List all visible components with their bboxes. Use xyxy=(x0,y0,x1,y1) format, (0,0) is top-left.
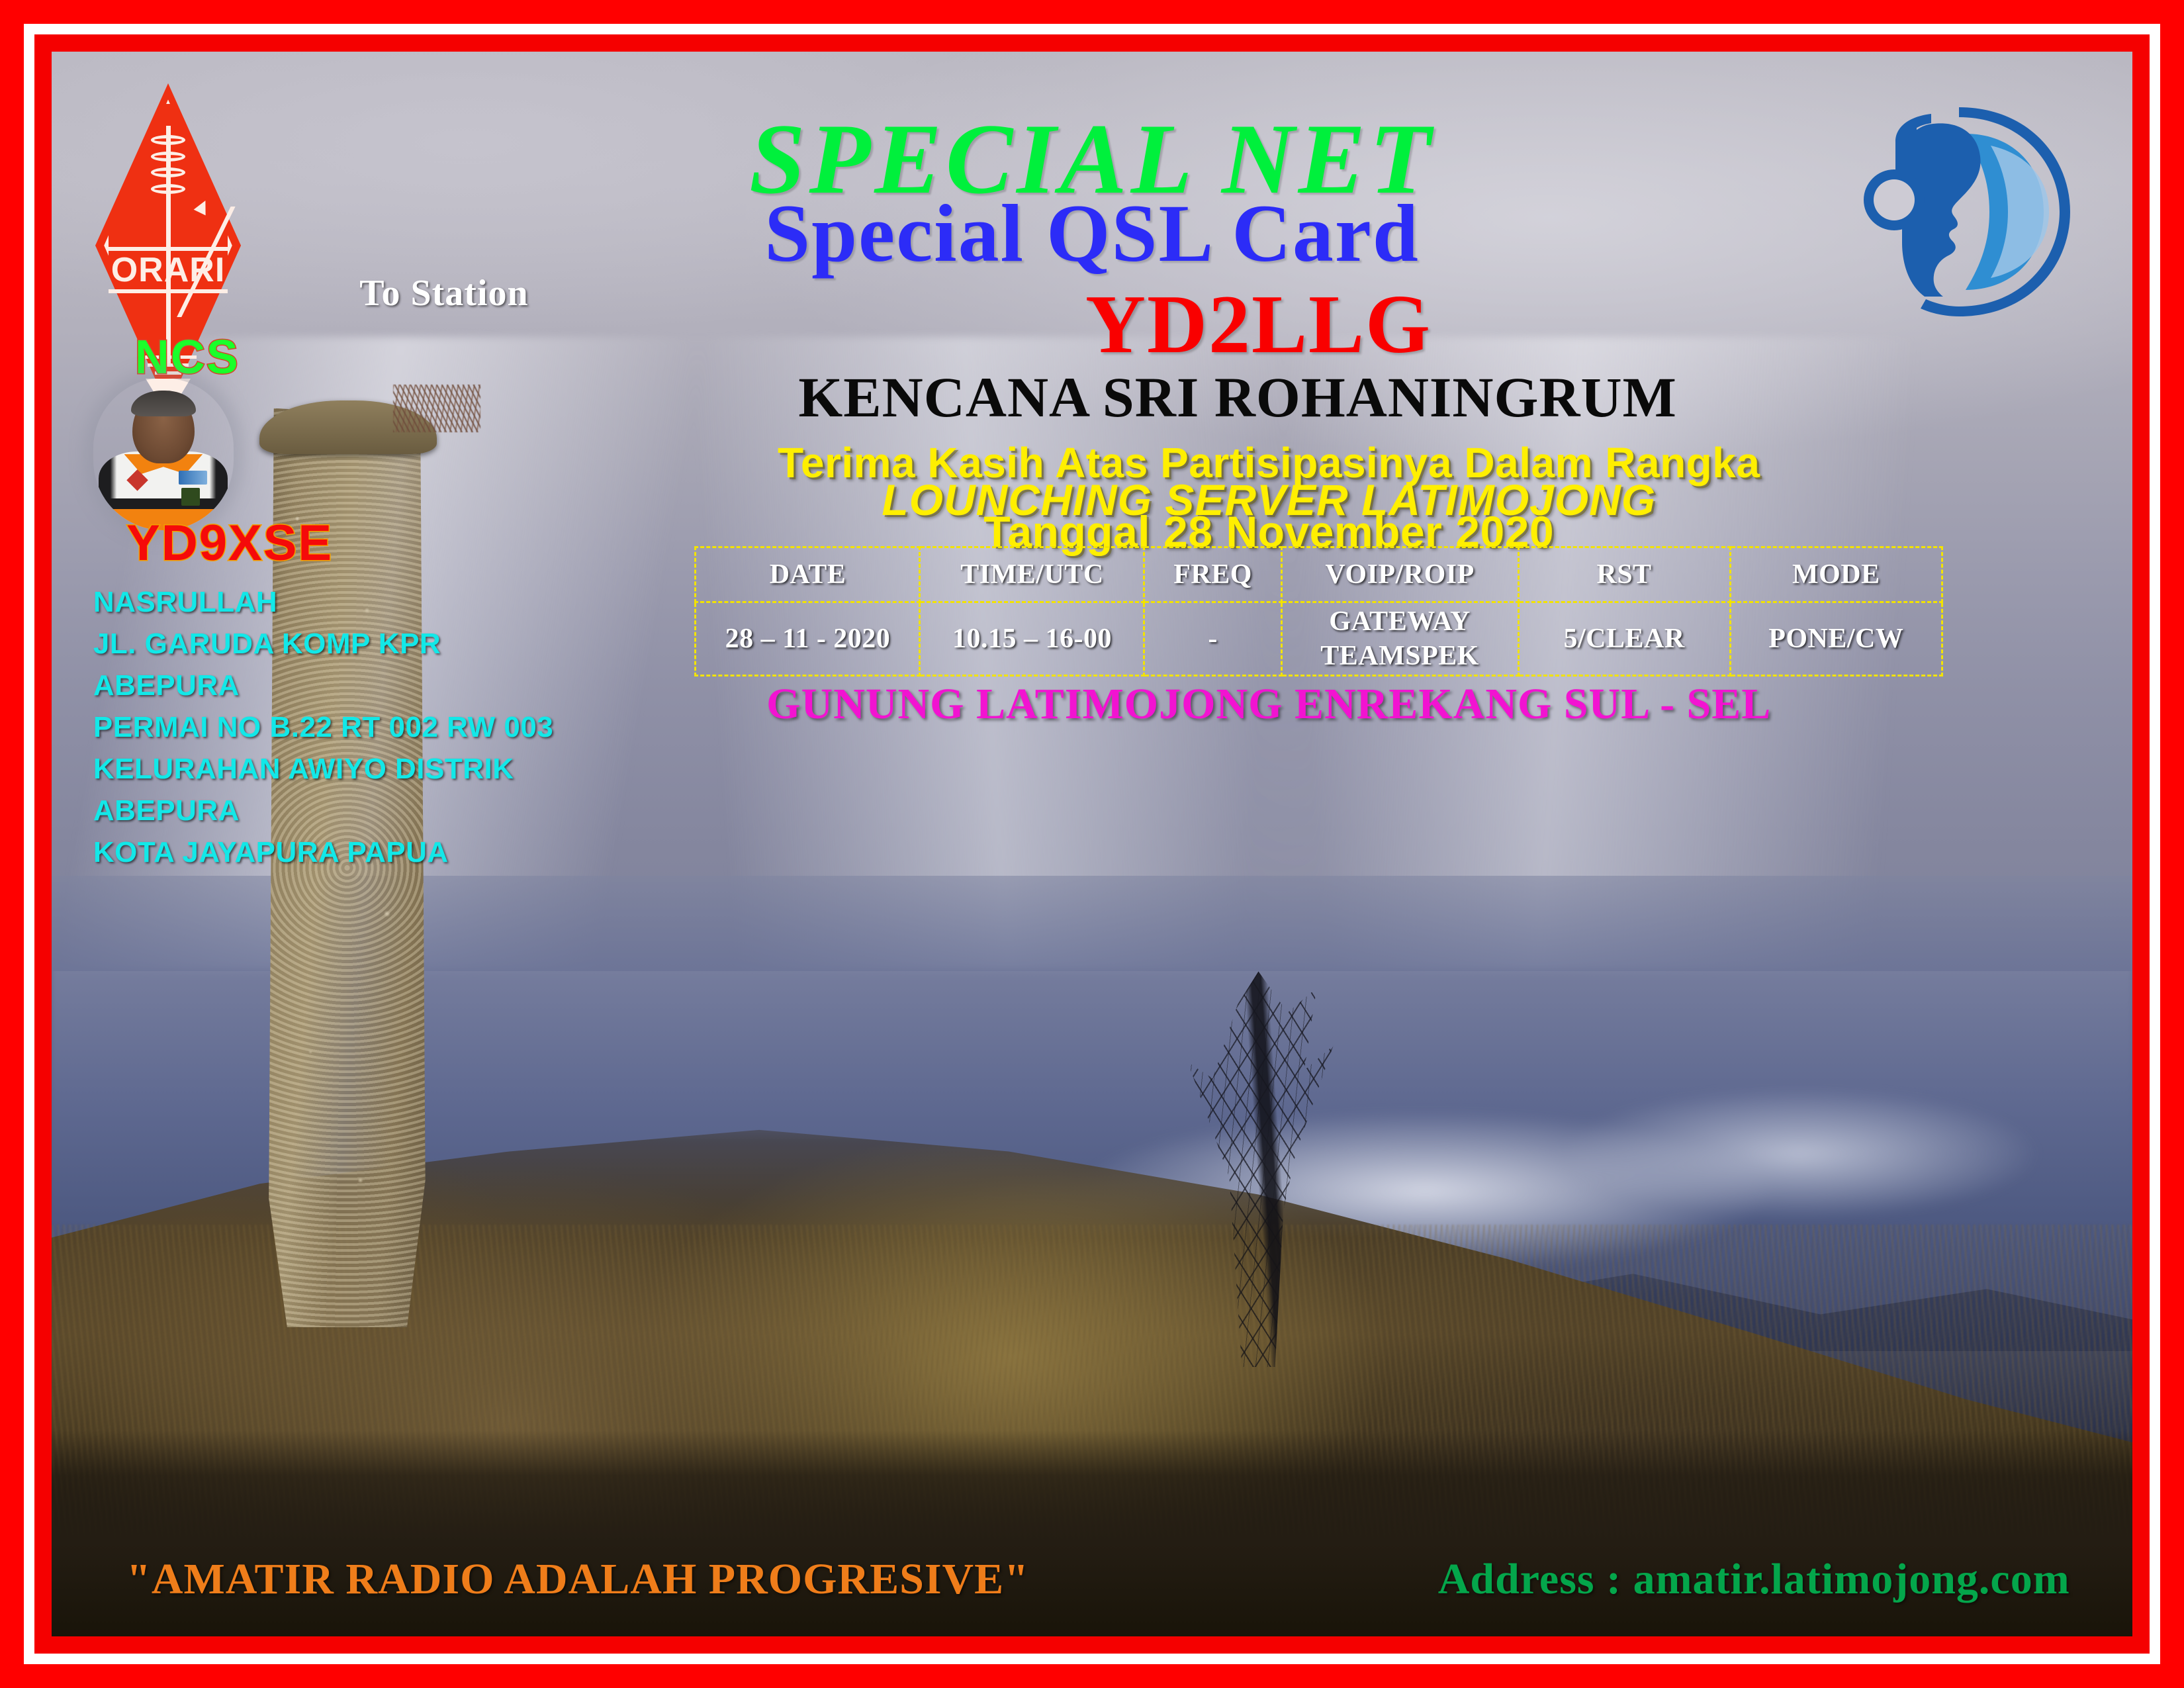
cell-mode: PONE/CW xyxy=(1730,602,1942,675)
cell-date: 28 – 11 - 2020 xyxy=(696,602,920,675)
cell-time: 10.15 – 16-00 xyxy=(920,602,1144,675)
operator-avatar xyxy=(93,378,234,530)
column-header-freq: FREQ xyxy=(1144,547,1281,602)
address-line: KELURAHAN AWIYO DISTRIK xyxy=(93,748,553,790)
to-station-label: To Station xyxy=(359,272,528,314)
ncs-callsign-label: YD9XSE xyxy=(126,514,333,572)
sender-address-block: NASRULLAH JL. GARUDA KOMP KPR ABEPURA PE… xyxy=(93,581,553,873)
operator-hair xyxy=(131,391,196,416)
operator-badge-right xyxy=(179,471,206,485)
qsl-card: ORARI SPECIAL N xyxy=(0,0,2184,1688)
footer-motto: "AMATIR RADIO ADALAH PROGRESIVE" xyxy=(126,1554,1029,1605)
card-frame-inner-red: ORARI SPECIAL N xyxy=(34,34,2150,1654)
cell-freq: - xyxy=(1144,602,1281,675)
column-header-rst: RST xyxy=(1518,547,1730,602)
event-location-line: GUNUNG LATIMOJONG ENREKANG SUL - SEL xyxy=(655,682,1883,726)
footer-address: Address : amatir.latimojong.com xyxy=(1438,1554,2070,1605)
address-line: JL. GARUDA KOMP KPR xyxy=(93,623,553,665)
operator-belt xyxy=(105,498,222,509)
column-header-mode: MODE xyxy=(1730,547,1942,602)
column-header-voip-roip: VOIP/ROIP xyxy=(1281,547,1518,602)
cell-voip-line1: GATEWAY xyxy=(1283,604,1517,639)
page-subtitle-qsl-card: Special QSL Card xyxy=(52,193,2132,275)
address-line: PERMAI NO B.22 RT 002 RW 003 xyxy=(93,706,553,748)
table-row: 28 – 11 - 2020 10.15 – 16-00 - GATEWAY T… xyxy=(696,602,1942,675)
table-header-row: DATE TIME/UTC FREQ VOIP/ROIP RST MODE xyxy=(696,547,1942,602)
station-callsign: YD2LLG xyxy=(614,283,1903,367)
address-line: ABEPURA xyxy=(93,665,553,706)
column-header-time: TIME/UTC xyxy=(920,547,1144,602)
card-frame-white-gap: ORARI SPECIAL N xyxy=(24,24,2160,1664)
address-line: NASRULLAH xyxy=(93,581,553,623)
footer-address-label: Address : xyxy=(1438,1555,1621,1603)
station-operator-name: KENCANA SRI ROHANINGRUM xyxy=(510,369,1966,426)
cell-voip-line2: TEAMSPEK xyxy=(1283,639,1517,673)
cell-rst: 5/CLEAR xyxy=(1518,602,1730,675)
address-line: ABEPURA xyxy=(93,790,553,831)
card-photo-background: ORARI SPECIAL N xyxy=(52,52,2132,1636)
footer-address-value: amatir.latimojong.com xyxy=(1633,1555,2070,1603)
address-line: KOTA JAYAPURA PAPUA xyxy=(93,831,553,873)
column-header-date: DATE xyxy=(696,547,920,602)
qso-details-table: DATE TIME/UTC FREQ VOIP/ROIP RST MODE 28… xyxy=(694,546,1942,677)
operator-id-tag xyxy=(181,488,200,506)
cell-voip-roip: GATEWAY TEAMSPEK xyxy=(1281,602,1518,675)
ncs-role-label: NCS xyxy=(135,330,240,385)
